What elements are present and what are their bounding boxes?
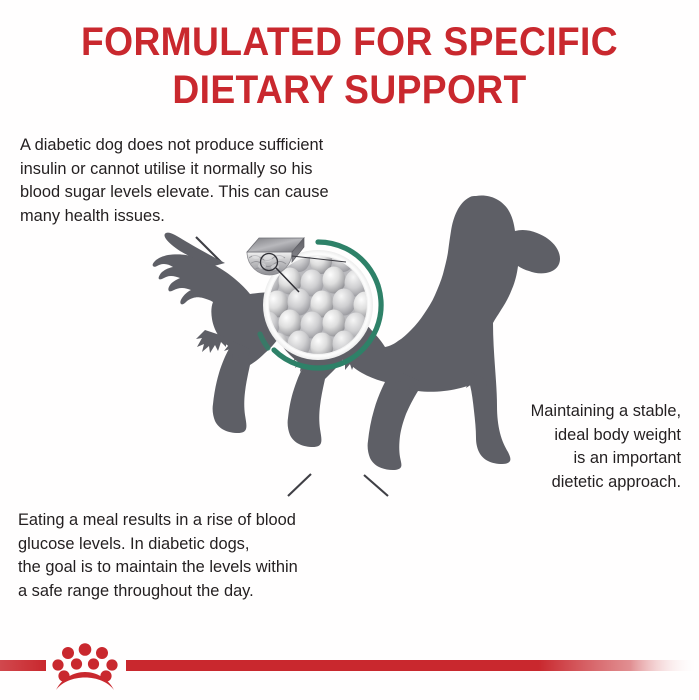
brand-footer xyxy=(0,628,699,700)
callout-right: Maintaining a stable, ideal body weight … xyxy=(441,400,681,494)
brand-bar-left xyxy=(0,660,46,671)
callout-top-left: A diabetic dog does not produce sufficie… xyxy=(20,134,390,228)
brand-bar-right xyxy=(126,660,699,671)
royal-canin-crown-logo xyxy=(52,643,117,690)
infographic-canvas: FORMULATED FOR SPECIFIC DIETARY SUPPORT xyxy=(0,0,699,700)
callout-bottom-left: Eating a meal results in a rise of blood… xyxy=(18,509,378,603)
